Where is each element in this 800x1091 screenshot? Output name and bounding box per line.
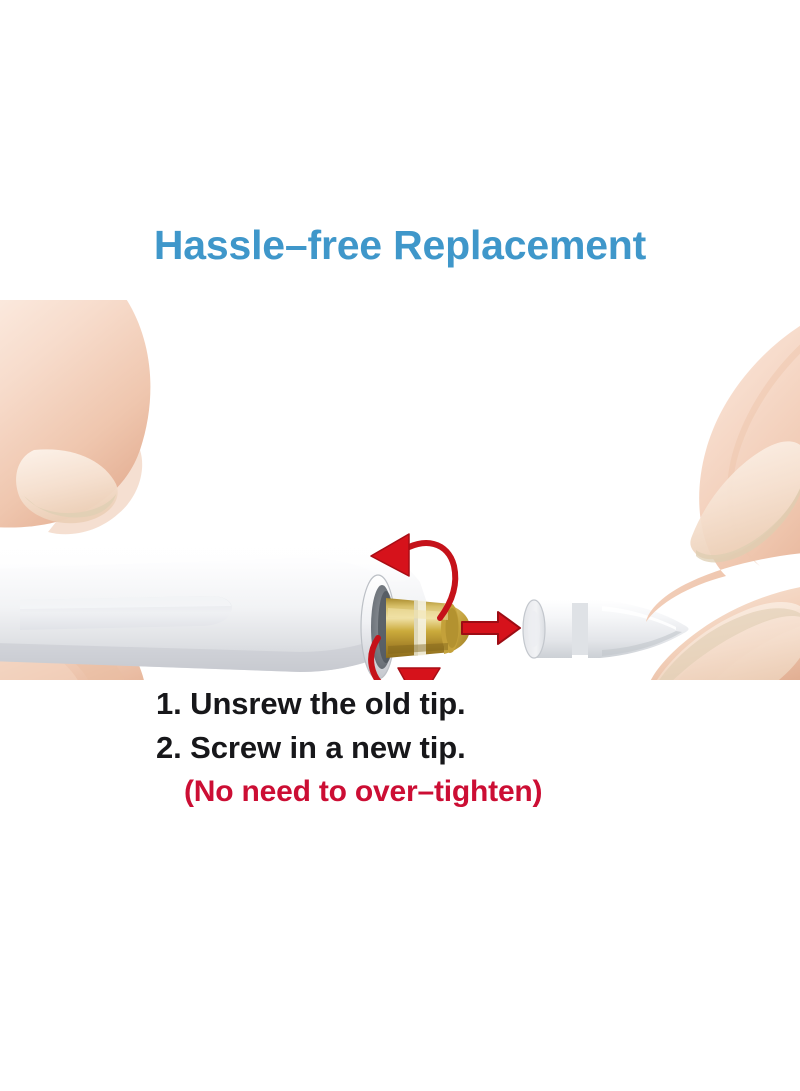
instruction-step-1: 1. Unsrew the old tip. [0,682,800,726]
product-infographic: Hassle–free Replacement [0,0,800,1091]
instruction-list: 1. Unsrew the old tip. 2. Screw in a new… [0,682,800,814]
direction-arrow-icon [462,612,520,644]
instruction-step-2: 2. Screw in a new tip. [0,726,800,770]
instruction-note: (No need to over–tighten) [0,770,800,814]
gold-threaded-post [386,598,470,658]
stylus-tip-replacement-illustration [0,300,800,680]
white-replacement-tip [523,600,689,658]
page-title: Hassle–free Replacement [0,222,800,269]
